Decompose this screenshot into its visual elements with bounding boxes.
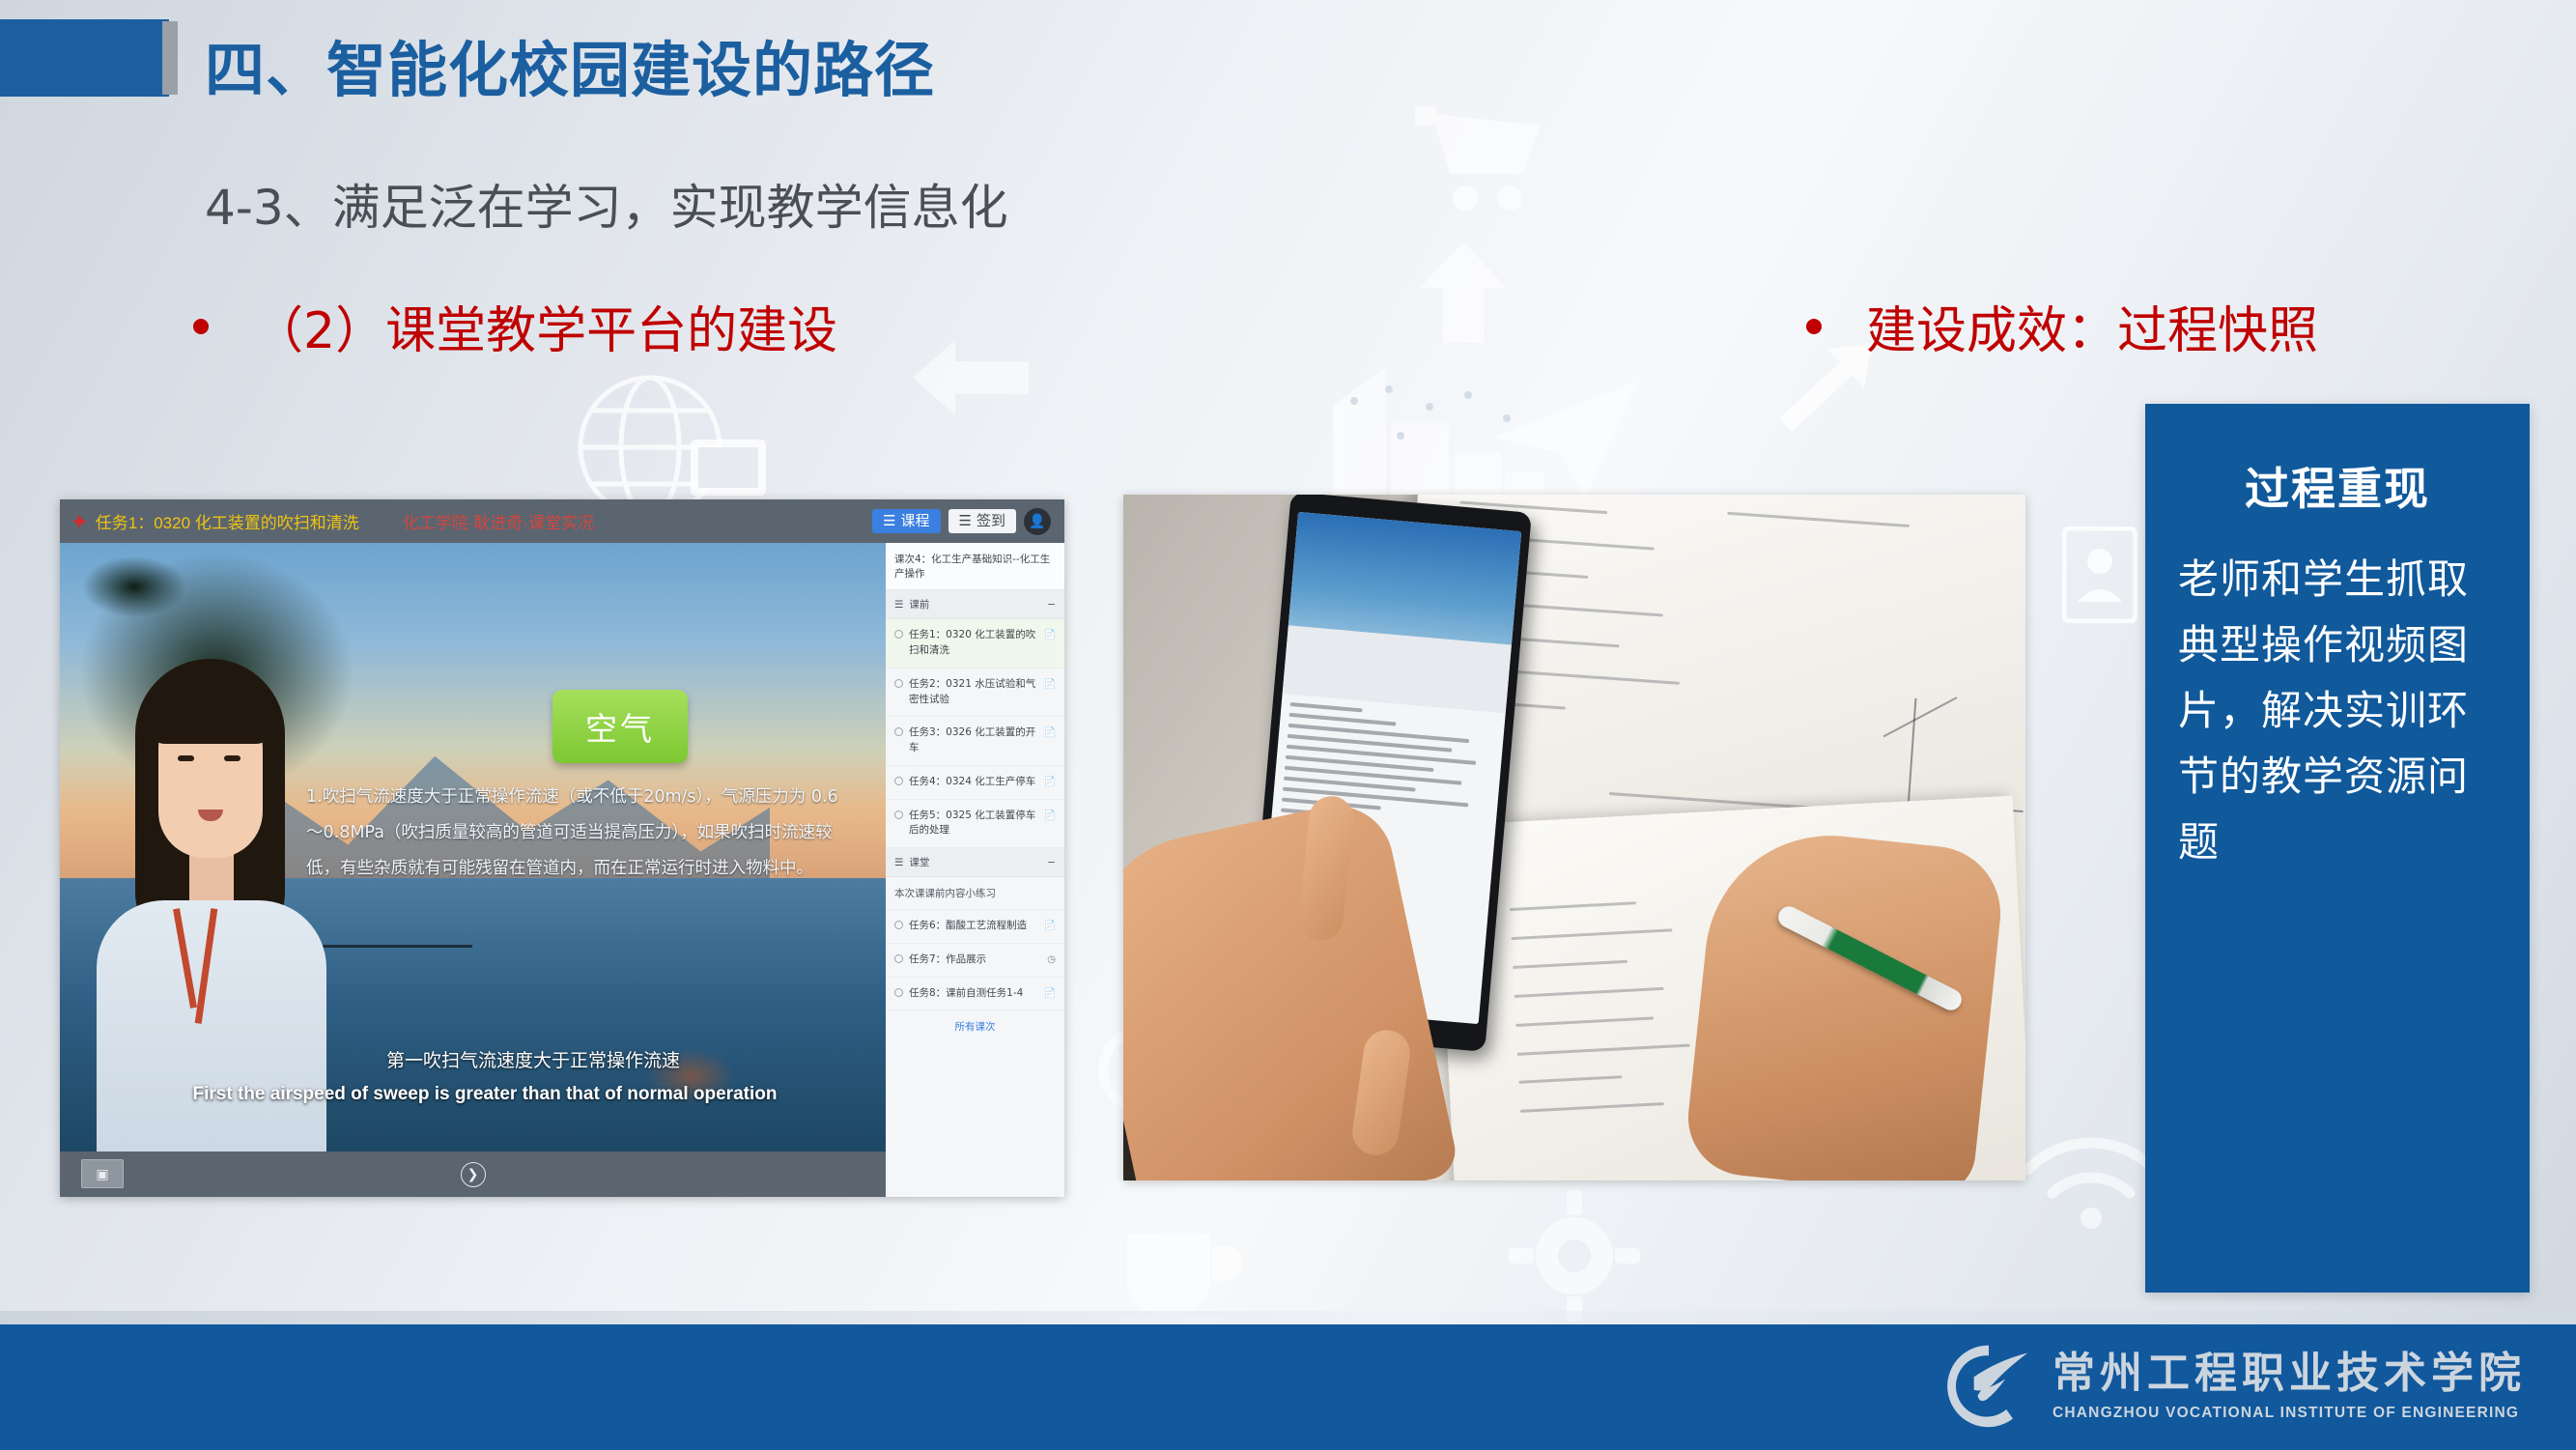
id-card-icon (2062, 526, 2137, 623)
sidebar-header: 课次4：化工生产基础知识--化工生产操作 (886, 543, 1064, 590)
list-item-label: 任务8：课前自测任务1-4 (909, 986, 1038, 1002)
gear-icon (1507, 1188, 1642, 1323)
sidebar-group-label: 课堂 (909, 855, 929, 869)
air-chip-label: 空气 (552, 690, 688, 763)
hamburger-icon: ☰ (894, 599, 903, 611)
radio-icon[interactable] (894, 988, 903, 997)
bullet-left-label: （2）课堂教学平台的建设 (253, 290, 837, 362)
lms-screenshot: ✦ 任务1：0320 化工装置的吹扫和清洗 化工学院·耿进奇·课堂实况 ☰ 课程… (60, 499, 1064, 1197)
list-item-label: 任务4：0324 化工生产停车 (909, 775, 1038, 790)
institution-logo: 常州工程职业技术学院 CHANGZHOU VOCATIONAL INSTITUT… (1942, 1340, 2526, 1433)
course-button[interactable]: ☰ 课程 (872, 509, 940, 533)
student-phone-notebook-photo (1123, 495, 2025, 1180)
radio-icon[interactable] (894, 777, 903, 785)
list-item-label: 任务3：0326 化工装置的开车 (909, 725, 1038, 756)
lms-topbar-buttons: ☰ 课程 ☰ 签到 👤 (872, 508, 1057, 535)
footer-bar: 常州工程职业技术学院 CHANGZHOU VOCATIONAL INSTITUT… (0, 1324, 2576, 1450)
chevron-right-icon[interactable]: ❯ (461, 1162, 486, 1187)
institution-name-en: CHANGZHOU VOCATIONAL INSTITUTE OF ENGINE… (2052, 1405, 2526, 1422)
signin-button[interactable]: ☰ 签到 (948, 509, 1016, 533)
sidebar-group-label: 课前 (909, 597, 929, 611)
slide-root: 四、智能化校园建设的路径 4-3、满足泛在学习，实现教学信息化 （2）课堂教学平… (0, 0, 2576, 1450)
chemistry-logo-icon: ✦ (71, 510, 88, 533)
bullet-dot-icon (1806, 319, 1822, 334)
list-item[interactable]: 任务6：酯酸工艺流程制造 📄 (886, 910, 1064, 944)
page-title: 四、智能化校园建设的路径 (205, 21, 935, 108)
bullet-right: 建设成效：过程快照 (1806, 290, 2318, 362)
radio-icon[interactable] (894, 630, 903, 639)
hamburger-icon: ☰ (883, 514, 895, 528)
list-item-label: 任务2：0321 水压试验和气密性试验 (909, 677, 1038, 708)
footer-top-fade (0, 1311, 2576, 1324)
lms-red-line: 化工学院·耿进奇·课堂实况 (403, 509, 594, 533)
list-item-label: 任务1：0320 化工装置的吹扫和清洗 (909, 628, 1038, 659)
clock-icon: ◷ (1047, 952, 1056, 967)
lms-video-stage[interactable]: 空气 1.吹扫气流速度大于正常操作流速（或不低于20m/s），气源压力为 0.6… (60, 543, 886, 1151)
lms-player-bottombar: ▣ ❯ (60, 1151, 886, 1197)
lms-task-title: 任务1：0320 化工装置的吹扫和清洗 (96, 509, 359, 533)
arrow-left-icon (913, 340, 1029, 415)
list-item[interactable]: 任务8：课前自测任务1-4 📄 (886, 978, 1064, 1011)
course-button-label: 课程 (901, 514, 930, 528)
hamburger-icon: ☰ (894, 857, 903, 868)
header-accent-band (0, 19, 169, 97)
panel-title: 过程重现 (2178, 454, 2497, 518)
list-item[interactable]: 任务1：0320 化工装置的吹扫和清洗 📄 (886, 619, 1064, 668)
cvie-crane-logo-icon (1942, 1340, 2035, 1433)
doc-icon: 📄 (1044, 986, 1056, 1001)
list-item[interactable]: 任务2：0321 水压试验和气密性试验 📄 (886, 668, 1064, 718)
presenter-figure (89, 659, 330, 1151)
radio-icon[interactable] (894, 810, 903, 819)
header-accent-tick (162, 21, 178, 95)
sidebar-group-note: 本次课课前内容小练习 (886, 877, 1064, 910)
sidebar-group-header[interactable]: ☰ 课前 − (886, 590, 1064, 619)
coffee-cup-icon (1106, 1188, 1251, 1323)
radio-icon[interactable] (894, 954, 903, 963)
lms-topbar: ✦ 任务1：0320 化工装置的吹扫和清洗 化工学院·耿进奇·课堂实况 ☰ 课程… (60, 499, 1064, 543)
doc-icon: 📄 (1044, 628, 1056, 642)
panel-body: 老师和学生抓取典型操作视频图片，解决实训环节的教学资源问题 (2178, 547, 2497, 875)
doc-icon: 📄 (1044, 725, 1056, 740)
video-caption: 1.吹扫气流速度大于正常操作流速（或不低于20m/s），气源压力为 0.6～0.… (306, 780, 847, 886)
doc-icon: 📄 (1044, 775, 1056, 789)
bullet-dot-icon (193, 319, 209, 334)
radio-icon[interactable] (894, 679, 903, 688)
list-item[interactable]: 任务5：0325 化工装置停车后的处理 📄 (886, 800, 1064, 849)
sidebar-group-header[interactable]: ☰ 课堂 − (886, 848, 1064, 877)
dot-cluster-icon (1343, 382, 1536, 469)
doc-icon: 📄 (1044, 809, 1056, 823)
radio-icon[interactable] (894, 727, 903, 736)
doc-icon: 📄 (1044, 919, 1056, 933)
institution-name: 常州工程职业技术学院 CHANGZHOU VOCATIONAL INSTITUT… (2052, 1350, 2526, 1421)
list-item-label: 任务5：0325 化工装置停车后的处理 (909, 809, 1038, 839)
list-item-label: 任务6：酯酸工艺流程制造 (909, 919, 1038, 934)
paper-plane-icon (1492, 382, 1637, 498)
doc-icon: 📄 (1044, 677, 1056, 692)
shopping-cart-icon (1405, 97, 1550, 222)
lms-course-sidebar[interactable]: 课次4：化工生产基础知识--化工生产操作 ☰ 课前 − 任务1：0320 化工装… (886, 543, 1064, 1197)
city-buildings-icon (1294, 348, 1574, 512)
institution-name-cn: 常州工程职业技术学院 (2052, 1350, 2526, 1397)
list-item[interactable]: 任务3：0326 化工装置的开车 📄 (886, 717, 1064, 766)
minus-icon[interactable]: − (1047, 857, 1056, 868)
video-subtitle-cn: 第一吹扫气流速度大于正常操作流速 (224, 1046, 842, 1072)
user-avatar-icon[interactable]: 👤 (1024, 508, 1051, 535)
bullet-left: （2）课堂教学平台的建设 (193, 290, 837, 362)
list-item-label: 任务7：作品展示 (909, 952, 1041, 968)
bullet-right-label: 建设成效：过程快照 (1866, 290, 2318, 362)
highlight-panel: 过程重现 老师和学生抓取典型操作视频图片，解决实训环节的教学资源问题 (2145, 404, 2530, 1293)
radio-icon[interactable] (894, 921, 903, 929)
page-subtitle: 4-3、满足泛在学习，实现教学信息化 (205, 169, 1008, 239)
thumbnail-icon[interactable]: ▣ (81, 1159, 124, 1188)
hamburger-icon: ☰ (959, 514, 972, 528)
video-subtitle-en: First the airspeed of sweep is greater t… (118, 1084, 852, 1105)
minus-icon[interactable]: − (1047, 599, 1056, 611)
list-item[interactable]: 任务7：作品展示 ◷ (886, 944, 1064, 978)
list-item[interactable]: 任务4：0324 化工生产停车 📄 (886, 766, 1064, 800)
all-sessions-link[interactable]: 所有课次 (886, 1010, 1064, 1045)
arrow-up-icon (1420, 242, 1507, 343)
signin-button-label: 签到 (977, 514, 1005, 528)
